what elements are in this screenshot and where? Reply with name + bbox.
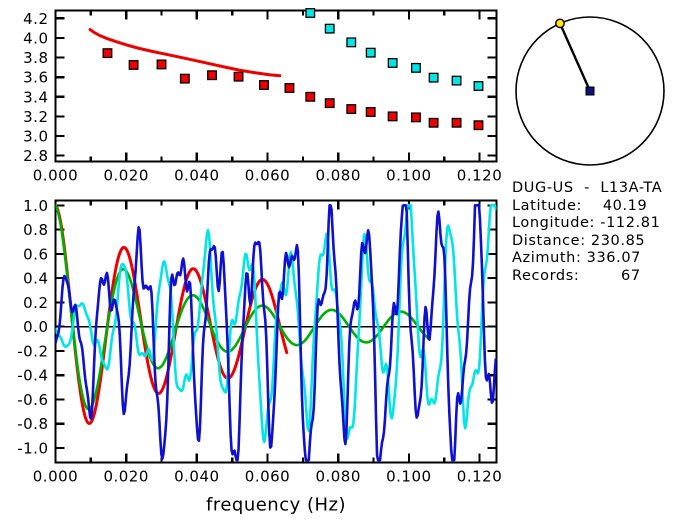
longitude-value: -112.81: [600, 215, 660, 231]
data-point-marker[interactable]: [306, 9, 315, 18]
y-tick-label: -0.2: [17, 342, 48, 360]
data-point-marker[interactable]: [474, 82, 483, 91]
great-circle-map-panel: [508, 0, 695, 180]
records-row: Records: 67: [512, 268, 692, 286]
y-tick-label: -1.0: [17, 439, 48, 457]
data-point-marker[interactable]: [181, 74, 190, 83]
y-tick-label: -0.4: [17, 367, 48, 385]
records-label: Records:: [512, 268, 579, 284]
x-tick-label: 0.040: [174, 468, 219, 486]
bottom-series-group: [56, 205, 496, 460]
y-tick-label: 0.4: [23, 270, 48, 288]
x-tick-label: 0.080: [315, 468, 360, 486]
y-tick-label: 3.8: [23, 49, 48, 67]
event-info-panel: DUG-US - L13A-TA Latitude: 40.19 Longitu…: [512, 180, 692, 286]
azimuth-value: 336.07: [587, 250, 641, 266]
x-tick-label: 0.040: [174, 167, 219, 185]
azimuth-row: Azimuth: 336.07: [512, 250, 692, 268]
data-point-marker[interactable]: [388, 112, 397, 121]
x-tick-label: 0.100: [386, 468, 431, 486]
top-series-group: [90, 9, 483, 130]
x-axis-title: frequency (Hz): [206, 495, 346, 516]
data-point-marker[interactable]: [129, 61, 138, 70]
model-curve-red: [90, 30, 280, 76]
data-point-marker[interactable]: [452, 118, 461, 127]
y-tick-label: -0.8: [17, 415, 48, 433]
azimuth-label: Azimuth:: [512, 250, 581, 266]
y-tick-label: 4.2: [23, 10, 48, 28]
x-tick-label: 0.120: [457, 167, 502, 185]
data-point-marker[interactable]: [366, 48, 375, 57]
records-value: 67: [621, 268, 641, 284]
distance-label: Distance:: [512, 233, 586, 249]
data-point-marker[interactable]: [325, 99, 334, 108]
great-circle-path-line: [560, 23, 590, 91]
x-tick-label: 0.020: [103, 468, 148, 486]
data-point-marker[interactable]: [366, 108, 375, 117]
data-point-marker[interactable]: [208, 71, 217, 80]
great-circle-map-svg[interactable]: [508, 0, 695, 180]
data-point-marker[interactable]: [347, 105, 356, 114]
data-point-marker[interactable]: [234, 72, 243, 81]
distance-value: 230.85: [591, 233, 645, 249]
y-tick-label: 1.0: [23, 197, 48, 215]
y-tick-label: 0.2: [23, 294, 48, 312]
data-point-marker[interactable]: [285, 84, 294, 93]
station-marker-icon[interactable]: [556, 19, 564, 27]
data-point-marker[interactable]: [412, 113, 421, 122]
data-point-marker[interactable]: [452, 76, 461, 85]
data-point-marker[interactable]: [157, 60, 166, 69]
event-marker-icon[interactable]: [586, 87, 594, 95]
data-point-marker[interactable]: [347, 38, 356, 47]
latitude-row: Latitude: 40.19: [512, 198, 692, 216]
latitude-value: 40.19: [603, 198, 648, 214]
x-tick-label: 0.000: [33, 468, 78, 486]
latitude-label: Latitude:: [512, 198, 582, 214]
y-tick-label: 0.8: [23, 221, 48, 239]
data-point-marker[interactable]: [103, 49, 112, 58]
x-tick-label: 0.120: [457, 468, 502, 486]
data-point-marker[interactable]: [412, 64, 421, 73]
waveform-plot-panel: 0.0000.0200.0400.0600.0800.1000.120-1.0-…: [0, 190, 512, 519]
y-tick-label: 2.8: [23, 147, 48, 165]
waveform-plot-svg[interactable]: 0.0000.0200.0400.0600.0800.1000.120-1.0-…: [0, 190, 512, 519]
y-tick-label: 0.6: [23, 245, 48, 263]
y-tick-label: 4.0: [23, 29, 48, 47]
data-point-marker[interactable]: [429, 118, 438, 127]
longitude-label: Longitude:: [512, 215, 595, 231]
x-tick-label: 0.060: [245, 468, 290, 486]
data-point-marker[interactable]: [306, 92, 315, 101]
plot-frame: [56, 11, 497, 162]
y-tick-label: 3.2: [23, 108, 48, 126]
data-point-marker[interactable]: [429, 73, 438, 82]
y-tick-label: 0.0: [23, 318, 48, 336]
y-tick-label: 3.6: [23, 69, 48, 87]
dispersion-plot-panel: 0.0000.0200.0400.0600.0800.1000.1202.83.…: [0, 0, 512, 185]
y-tick-label: -0.6: [17, 391, 48, 409]
longitude-row: Longitude: -112.81: [512, 215, 692, 233]
x-tick-label: 0.000: [33, 167, 78, 185]
x-tick-label: 0.060: [245, 167, 290, 185]
x-tick-label: 0.020: [103, 167, 148, 185]
x-tick-label: 0.080: [315, 167, 360, 185]
distance-row: Distance: 230.85: [512, 233, 692, 251]
data-point-marker[interactable]: [474, 121, 483, 130]
data-point-marker[interactable]: [325, 24, 334, 33]
x-tick-label: 0.100: [386, 167, 431, 185]
y-tick-label: 3.4: [23, 88, 48, 106]
data-point-marker[interactable]: [388, 59, 397, 68]
station-event-label: DUG-US - L13A-TA: [512, 180, 692, 198]
dispersion-plot-svg[interactable]: 0.0000.0200.0400.0600.0800.1000.1202.83.…: [0, 0, 512, 185]
y-tick-label: 3.0: [23, 128, 48, 146]
data-point-marker[interactable]: [260, 81, 269, 90]
